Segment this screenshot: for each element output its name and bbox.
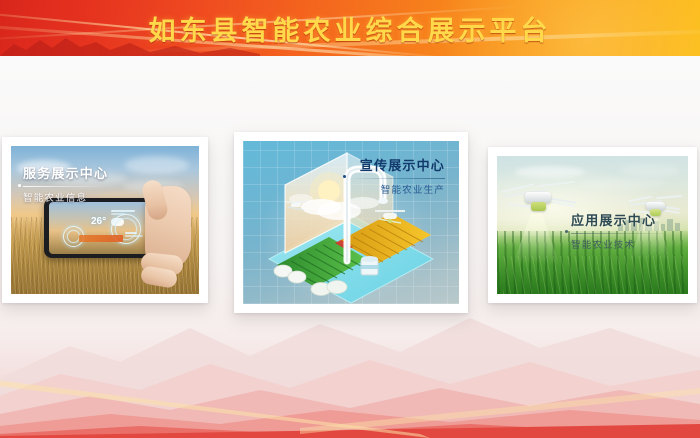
card-service-display-center[interactable]: 26°: [2, 137, 208, 303]
card-service-image: 26°: [11, 146, 199, 294]
card-application-title: 应用展示中心: [571, 210, 663, 229]
cloud: [620, 164, 680, 177]
card-application-display-center[interactable]: 应用展示中心 智能农业技术: [488, 147, 697, 303]
card-publicity-title: 宣传展示中心: [349, 155, 445, 174]
cloud: [579, 178, 665, 189]
bullet-dot: [18, 184, 21, 187]
header-banner: 如东县智能农业综合展示平台: [0, 0, 700, 56]
cloud: [515, 166, 585, 178]
card-service-label-block: 服务展示中心 智能农业信息: [23, 163, 108, 204]
card-service-subtitle: 智能农业信息: [23, 190, 108, 204]
bullet-dot: [343, 175, 346, 178]
divider: [571, 233, 663, 234]
ar-temperature-label: 26°: [91, 216, 106, 227]
divider: [349, 178, 445, 179]
card-publicity-subtitle: 智能农业生产: [349, 182, 445, 196]
drone-large: [501, 178, 581, 222]
cloud: [125, 156, 189, 174]
scene-wheat-field: 26°: [11, 146, 199, 294]
card-publicity-label-block: 宣传展示中心 智能农业生产: [349, 155, 445, 196]
scene-isometric-farm: 宣传展示中心 智能农业生产: [243, 141, 459, 304]
bullet-dot: [565, 230, 568, 233]
card-application-image: 应用展示中心 智能农业技术: [497, 156, 688, 294]
hand-holding-phone: [127, 180, 191, 292]
card-publicity-display-center[interactable]: 宣传展示中心 智能农业生产: [234, 132, 468, 313]
scene-drone-field: 应用展示中心 智能农业技术: [497, 156, 688, 294]
card-application-subtitle: 智能农业技术: [571, 237, 663, 251]
card-service-title: 服务展示中心: [23, 163, 108, 182]
divider: [23, 186, 107, 187]
display-platform-page: 如东县智能农业综合展示平台 26°: [0, 0, 700, 438]
card-publicity-image: 宣传展示中心 智能农业生产: [243, 141, 459, 304]
page-title: 如东县智能农业综合展示平台: [0, 0, 700, 56]
card-application-label-block: 应用展示中心 智能农业技术: [571, 210, 663, 251]
ar-info-chip: [79, 235, 123, 242]
